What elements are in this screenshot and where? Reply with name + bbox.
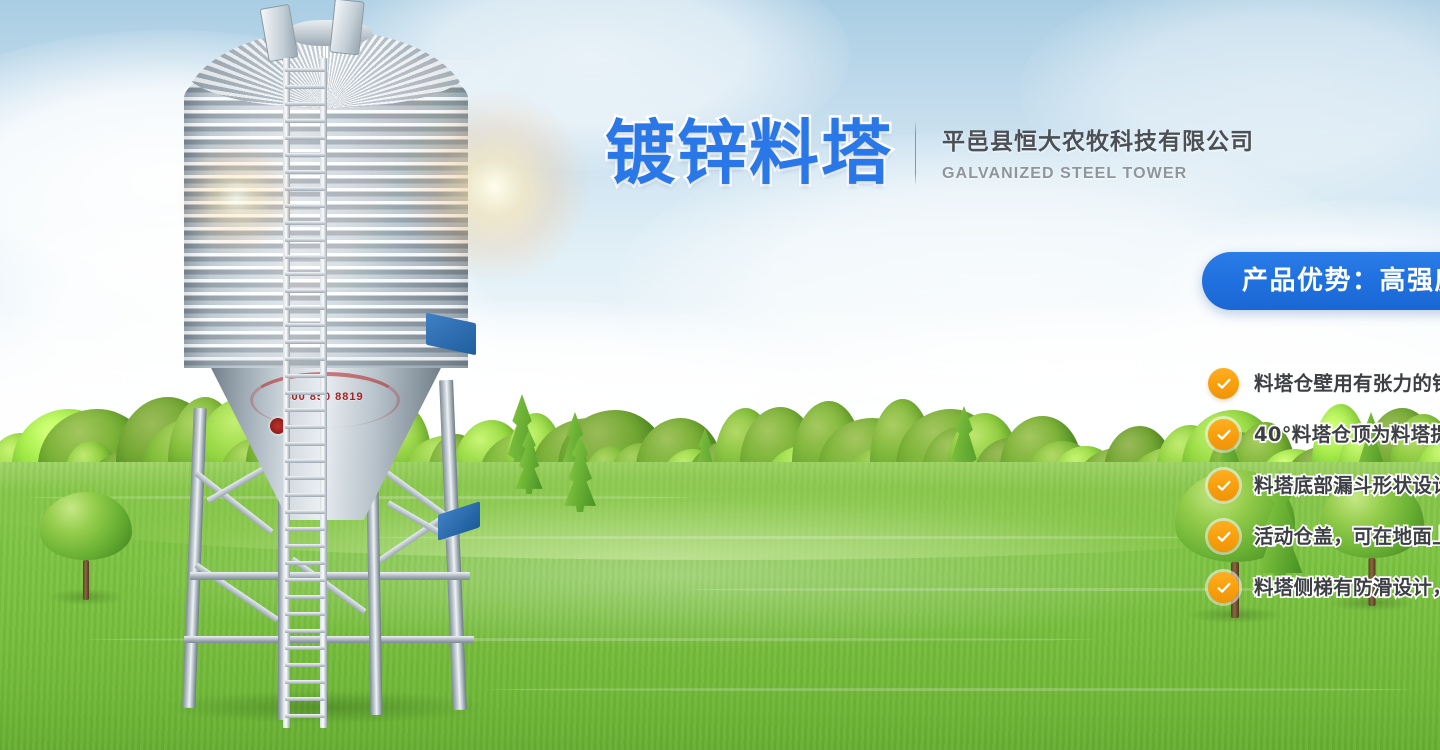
- ladder-rung: [285, 527, 325, 531]
- ladder-rung: [285, 408, 325, 412]
- tree-trunk: [83, 560, 89, 600]
- ladder-rung: [285, 714, 325, 718]
- ladder-rung: [285, 493, 325, 497]
- feature-item: 活动仓盖，可在地面上对料仓进行开启、关闭和锁住操作。: [1208, 511, 1440, 562]
- feature-text: 料塔侧梯有防滑设计，不仅安全可靠，还方便观察、安装、维修料塔。: [1254, 578, 1440, 598]
- silo-horizontal-rail: [190, 572, 470, 580]
- feature-item: 40°料塔仓顶为料塔提供了更大的强度和容量，还可防雨水进入料仓。: [1208, 409, 1440, 460]
- feature-text: 料塔仓壁用有张力的钢材制成，且经过电镀涂层处理，使用寿命长。: [1254, 374, 1440, 394]
- ladder-rung: [285, 272, 325, 276]
- ladder-rung: [285, 697, 325, 701]
- ladder-rung: [285, 544, 325, 548]
- company-name: 平邑县恒大农牧科技有限公司: [942, 128, 1254, 157]
- banner-copy: 镀锌料塔 平邑县恒大农牧科技有限公司 GALVANIZED STEEL TOWE…: [600, 0, 1320, 750]
- ladder-rung: [285, 663, 325, 667]
- ladder-rung: [285, 476, 325, 480]
- ladder-rung: [285, 578, 325, 582]
- ladder-rung: [285, 68, 325, 72]
- ladder-rung: [285, 340, 325, 344]
- company-block: 平邑县恒大农牧科技有限公司 GALVANIZED STEEL TOWER: [942, 124, 1254, 183]
- feature-list: 料塔仓壁用有张力的钢材制成，且经过电镀涂层处理，使用寿命长。40°料塔仓顶为料塔…: [1208, 358, 1440, 613]
- ladder-rung: [285, 425, 325, 429]
- ladder-rung: [285, 374, 325, 378]
- ladder-rung: [285, 646, 325, 650]
- check-circle-icon: [1208, 419, 1239, 450]
- ladder-rung: [285, 680, 325, 684]
- feature-text: 活动仓盖，可在地面上对料仓进行开启、关闭和锁住操作。: [1254, 527, 1440, 547]
- ladder-rung: [285, 102, 325, 106]
- advantage-pill-label: 产品优势：高强度 | 耐腐蚀 | 使用寿命长: [1242, 268, 1440, 294]
- check-circle-icon: [1208, 470, 1239, 501]
- silo-horizontal-rail: [184, 636, 474, 643]
- ladder-rung: [285, 238, 325, 242]
- ladder-rung: [285, 255, 325, 259]
- feature-text: 40°料塔仓顶为料塔提供了更大的强度和容量，还可防雨水进入料仓。: [1254, 425, 1440, 445]
- feature-item: 料塔侧梯有防滑设计，不仅安全可靠，还方便观察、安装、维修料塔。: [1208, 562, 1440, 613]
- ladder-rung: [285, 357, 325, 361]
- ladder-rung: [285, 595, 325, 599]
- ladder-rung: [285, 187, 325, 191]
- ladder-rung: [285, 221, 325, 225]
- ladder-rung: [285, 306, 325, 310]
- silo-brace: [194, 471, 273, 535]
- feature-text: 料塔底部漏斗形状设计，为饲料输送提供条件。: [1254, 476, 1440, 496]
- headline-row: 镀锌料塔 平邑县恒大农牧科技有限公司 GALVANIZED STEEL TOWE…: [605, 118, 1254, 188]
- ladder-rung: [285, 459, 325, 463]
- check-circle-icon: [1208, 572, 1239, 603]
- ladder-rung: [285, 170, 325, 174]
- check-circle-icon: [1208, 368, 1239, 399]
- advantage-pill: 产品优势：高强度 | 耐腐蚀 | 使用寿命长: [1202, 252, 1440, 310]
- silo-leg: [439, 380, 467, 710]
- check-circle-icon: [1208, 521, 1239, 552]
- ladder-rung: [285, 323, 325, 327]
- company-name-en: GALVANIZED STEEL TOWER: [942, 166, 1254, 182]
- tree-crown: [40, 492, 132, 560]
- silo-leg: [182, 408, 207, 708]
- ladder-rung: [285, 442, 325, 446]
- feature-item: 料塔仓壁用有张力的钢材制成，且经过电镀涂层处理，使用寿命长。: [1208, 358, 1440, 409]
- ladder-rung: [285, 153, 325, 157]
- ladder-rung: [285, 119, 325, 123]
- midground-tree: [40, 492, 132, 600]
- title-divider: [915, 120, 916, 186]
- silo-side-ladder: [283, 58, 327, 728]
- ladder-rung: [285, 510, 325, 514]
- ladder-rung: [285, 629, 325, 633]
- ladder-rung: [285, 85, 325, 89]
- galvanized-feed-silo-image: 400 850 8819: [150, 0, 510, 750]
- feature-item: 料塔底部漏斗形状设计，为饲料输送提供条件。: [1208, 460, 1440, 511]
- page-title: 镀锌料塔: [605, 118, 893, 188]
- ladder-rung: [285, 289, 325, 293]
- ladder-rung: [285, 612, 325, 616]
- ladder-rung: [285, 561, 325, 565]
- silo-brace: [207, 463, 271, 503]
- silo-lid-hatch: [329, 0, 364, 55]
- ladder-rung: [285, 391, 325, 395]
- ladder-rung: [285, 136, 325, 140]
- ladder-rung: [285, 204, 325, 208]
- hero-banner: 400 850 8819 镀锌料塔 平邑县恒大农牧科技有限公司 GALVANIZ…: [0, 0, 1440, 750]
